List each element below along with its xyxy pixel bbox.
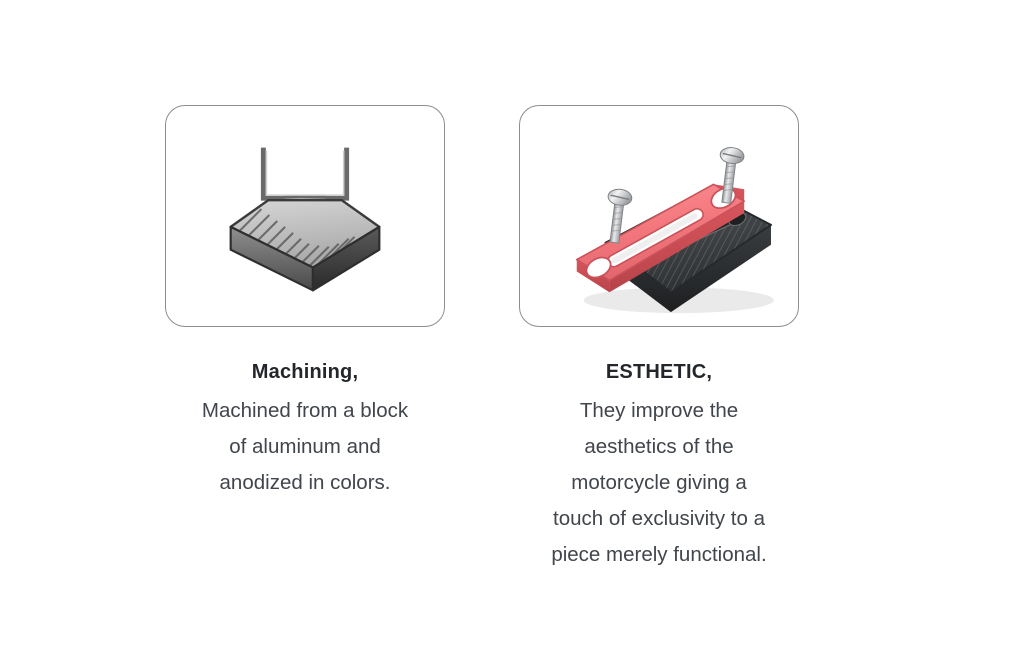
feature-machining: Machining, Machined from a block of alum… xyxy=(164,0,446,501)
feature-cards-page: Machining, Machined from a block of alum… xyxy=(0,0,1024,649)
esthetic-body: They improve the aesthetics of the motor… xyxy=(509,393,809,573)
esthetic-icon-card[interactable] xyxy=(519,105,799,327)
machining-body: Machined from a block of aluminum and an… xyxy=(155,393,455,501)
machining-title: Machining, xyxy=(155,357,455,387)
machining-text-block: Machining, Machined from a block of alum… xyxy=(155,357,455,501)
anodized-bracket-part-icon xyxy=(520,106,798,326)
feature-esthetic: ESTHETIC, They improve the aesthetics of… xyxy=(518,0,800,573)
feature-columns: Machining, Machined from a block of alum… xyxy=(0,0,1024,649)
machining-icon-card[interactable] xyxy=(165,105,445,327)
cnc-milling-machine-icon xyxy=(166,106,444,326)
esthetic-text-block: ESTHETIC, They improve the aesthetics of… xyxy=(509,357,809,573)
esthetic-title: ESTHETIC, xyxy=(509,357,809,387)
